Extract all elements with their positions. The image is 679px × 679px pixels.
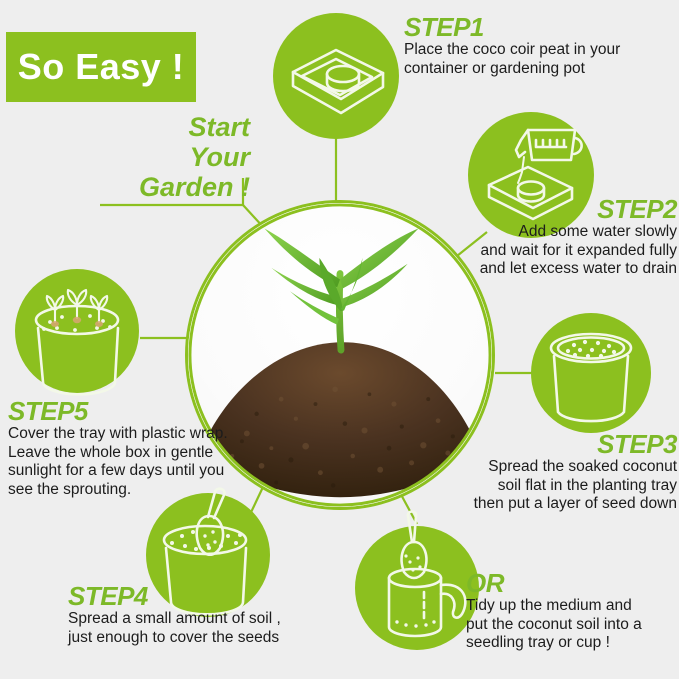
step1-text-block: STEP1 Place the coco coir peat in your c… [404,14,669,78]
step2-label: STEP2 [399,196,677,223]
step4-label: STEP4 [68,583,348,610]
step4-body: Spread a small amount of soil , just eno… [68,610,348,647]
banner-title: So Easy ! [6,32,196,102]
step3-body: Spread the soaked coconut soil flat in t… [439,458,677,514]
step5-label: STEP5 [8,398,248,425]
or-text-block: OR Tidy up the medium and put the coconu… [466,570,676,653]
step1-label: STEP1 [404,14,669,41]
step2-text-block: STEP2 Add some water slowly and wait for… [399,196,677,279]
seedling-stem [339,274,341,350]
or-label: OR [466,570,676,597]
step3-label: STEP3 [439,431,677,458]
step5-body: Cover the tray with plastic wrap. Leave … [8,425,248,499]
step3-text-block: STEP3 Spread the soaked coconut soil fla… [439,431,677,514]
so-easy-banner: So Easy ! [6,32,196,102]
subhead-line-3: Garden ! [60,172,250,202]
step2-body: Add some water slowly and wait for it ex… [399,223,677,279]
subhead-line-2: Your [60,142,250,172]
infographic-canvas: So Easy ! Start Your Garden ! [0,0,679,679]
step5-text-block: STEP5 Cover the tray with plastic wrap. … [8,398,248,499]
step4-text-block: STEP4 Spread a small amount of soil , ju… [68,583,348,647]
step1-body: Place the coco coir peat in your contain… [404,41,669,78]
subhead-line-1: Start [60,112,250,142]
start-your-garden-heading: Start Your Garden ! [60,112,250,202]
or-body: Tidy up the medium and put the coconut s… [466,597,676,653]
